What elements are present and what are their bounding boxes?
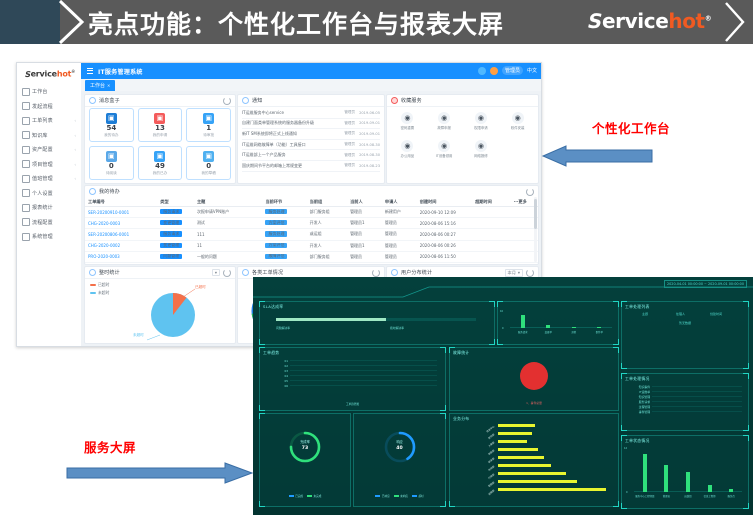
gauge-legend-item: 已响应: [375, 494, 389, 498]
table-cell: 部门服务组: [307, 254, 347, 260]
handle-label: 过程管理: [626, 405, 650, 409]
table-row[interactable]: SER-20200910-0001服务请求次报申请VPN账户服务处理部门服务组管…: [85, 207, 538, 218]
key-icon: ◉: [475, 112, 487, 124]
notice-row[interactable]: IT运维网络故障单（功能）工具接口管理员2019-08-30: [242, 140, 380, 151]
message-tile-label: 待审批: [203, 133, 214, 138]
message-tile-label: 待阅读: [106, 171, 117, 176]
heart-icon: [391, 97, 398, 104]
legend-label: 已完成: [295, 494, 303, 498]
annotation-workbench-label: 个性化工作台: [592, 118, 670, 137]
notice-user: 管理员: [344, 142, 355, 147]
handle-bars-title: 工单处理情况: [625, 376, 650, 382]
table-column-header[interactable]: 主题: [194, 199, 263, 205]
favourite-label: 网络报修: [474, 153, 488, 158]
message-tile-0[interactable]: ▣54我的待办: [89, 108, 134, 142]
status-bar-category: 信息工程师: [699, 494, 721, 498]
trend-label: 05: [266, 379, 288, 383]
my-tickets-card: 我的待办 工单编号类型主题当前环节当前组当前人申请人创建时间超期时间···更多 …: [84, 185, 539, 265]
legend-label: 已超时: [98, 282, 109, 288]
message-tile-count: 54: [106, 125, 116, 132]
notice-user: 管理员: [344, 153, 355, 158]
favourite-label: 权限申请: [474, 125, 488, 130]
message-tile-label: 我的草稿: [201, 171, 215, 176]
handle-label: 服务请求: [626, 400, 650, 404]
notice-list: IT运维服务中心service管理员2019-06-05自建门面类单管理系统的服…: [242, 108, 380, 181]
status-bar-category: 服务台: [720, 494, 742, 498]
dept-bar: [498, 464, 551, 467]
sidebar-item-label: 发起流程: [32, 103, 53, 110]
notice-text: 新IT SM系统即将正式上线通知: [242, 131, 340, 137]
notice-title: 通知: [252, 97, 262, 104]
sidebar-item-label: 工作台: [32, 88, 48, 95]
gauge-left-legend: 已完成未完成: [260, 494, 350, 498]
book-icon: [22, 131, 30, 139]
table-column-header[interactable]: 当前人: [347, 199, 382, 205]
table-cell: 开发人: [307, 243, 347, 249]
detail-table-empty: 暂无数据: [622, 321, 748, 325]
detail-table-title: 工单处理列表: [625, 304, 650, 310]
type-bar-category: 事件单: [587, 330, 613, 334]
language-switch[interactable]: 中文: [527, 67, 537, 74]
table-column-header[interactable]: 类型: [157, 199, 194, 205]
logo-hot: hot: [668, 9, 704, 33]
slide-header: 亮点功能：个性化工作台与报表大屏 Servicehot®: [0, 0, 753, 44]
handle-track: [652, 406, 742, 408]
table-cell: 服务请求: [157, 209, 194, 215]
refresh-icon[interactable]: [526, 269, 534, 277]
trend-label: 01: [266, 359, 288, 363]
logo-tm: ®: [705, 14, 712, 22]
news-icon: ▣: [106, 151, 117, 162]
axis-tick: 0: [502, 327, 504, 330]
message-box-actions: [223, 97, 231, 105]
favourite-item-3[interactable]: ◉软件安装: [500, 108, 535, 134]
table-column-header[interactable]: 当前环节: [262, 199, 306, 205]
legend-label: 超时: [418, 494, 423, 498]
app-sidebar: Servicehot® 工作台发起流程工单列表‹知识库‹资产配置‹项目管理‹值班…: [17, 63, 82, 346]
status-bar-chart: 服务中心工程师组管理员运维组信息工程师服务台012: [634, 447, 742, 498]
notice-user: 管理员: [344, 121, 355, 126]
status-badge: 服务处理: [265, 231, 287, 236]
dept-bar: [498, 456, 544, 459]
user-distribution-period-select[interactable]: 本月▾: [505, 269, 524, 277]
legend-swatch: [307, 495, 312, 498]
logo-mid: ervice: [602, 9, 668, 33]
type-bar-category: 其他: [561, 330, 587, 334]
ticket-trend-panel: 工单趋势 010203040506 工单趋势图: [259, 347, 446, 411]
sidebar-item-label: 流程配置: [32, 219, 53, 226]
handle-label: IT运维单: [626, 390, 650, 394]
table-cell: 一般的问题: [194, 254, 263, 260]
alert-caption: 1、事件总量: [450, 401, 618, 405]
table-row[interactable]: SER-20200806-0001服务请求111服务处理或运组管理员管理员202…: [85, 229, 538, 240]
my-tickets-table: 工单编号类型主题当前环节当前组当前人申请人创建时间超期时间···更多 SER-2…: [85, 197, 538, 264]
table-cell: 管理员1: [347, 243, 382, 249]
sidebar-item-label: 报表统计: [32, 204, 53, 211]
table-cell: 开发人: [307, 220, 347, 226]
edit-doc-icon: ▣: [154, 113, 165, 124]
status-badge: 服务请求: [160, 231, 182, 236]
refresh-icon[interactable]: [372, 269, 380, 277]
favourite-item-0[interactable]: ◉密码重置: [390, 108, 425, 134]
sidebar-item-1[interactable]: 发起流程: [22, 100, 80, 113]
sla-right-label: 按时解决率: [390, 326, 404, 330]
favourite-label: 办公用品: [401, 153, 415, 158]
timeliness-label-over: 已超时: [195, 285, 206, 290]
status-bar-category: 管理员: [656, 494, 678, 498]
notice-user: 管理员: [344, 110, 355, 115]
dept-bar: [498, 424, 535, 427]
notice-text: IT运维部上一个产品服务: [242, 152, 340, 158]
table-cell: 新建用户: [382, 209, 417, 215]
favourites-header: 收藏服务: [387, 95, 538, 107]
ticket-trend-rows: 010203040506: [266, 358, 437, 388]
trend-label: 03: [266, 369, 288, 373]
handle-label: 知识事件: [626, 385, 650, 389]
gauge-left-ring: 完成率 73: [288, 430, 322, 464]
bigscreen-date-range: 2020-04-01 00:00:00 ~ 2020-09-01 00:00:0…: [664, 280, 747, 288]
notice-row[interactable]: IT运维部上一个产品服务管理员2019-08-30: [242, 150, 380, 161]
message-icon[interactable]: [490, 67, 498, 75]
type-bar-bar: [546, 325, 550, 328]
message-box-title: 消息盒子: [99, 97, 120, 104]
ticket-types-title: 各类工单情况: [252, 269, 283, 276]
handle-track: [652, 391, 742, 393]
table-cell: 管理员: [347, 254, 382, 260]
table-column-header[interactable]: 创建时间: [417, 199, 472, 205]
detail-table-header: 主题处理人创建时间: [642, 312, 742, 316]
favourites-title: 收藏服务: [401, 97, 422, 104]
notice-text: 国庆期间节平台的邮箱上常规变更: [242, 163, 340, 169]
trend-label: 04: [266, 374, 288, 378]
dept-bar: [498, 440, 527, 443]
panel-dot-icon: [391, 269, 398, 276]
table-cell: 方案评估: [262, 220, 306, 226]
legend-label: 未超时: [98, 290, 109, 296]
header-chevron-right-icon: [721, 0, 751, 44]
sidebar-item-0[interactable]: 工作台: [22, 85, 80, 98]
annotation-arrow-left: [540, 145, 655, 167]
notice-date: 2019-06-05: [359, 111, 380, 115]
sidebar-item-label: 资产配置: [32, 146, 53, 153]
notice-row[interactable]: 自建门面类单管理系统的服务器备份升级管理员2019-09-01: [242, 119, 380, 130]
sidebar-item-label: 个人设置: [32, 190, 53, 197]
done-icon: ▣: [154, 151, 165, 162]
table-cell: 管理员: [382, 231, 417, 237]
sidebar-item-7[interactable]: 个人设置: [22, 187, 80, 200]
table-row[interactable]: CHG-2020-0002变更管理11方案评估开发人管理员1管理员2020-08…: [85, 241, 538, 252]
handle-track: [652, 396, 742, 398]
topbar-right-group: 管理员 中文: [478, 66, 537, 75]
sidebar-item-10[interactable]: 系统管理: [22, 230, 80, 243]
legend-swatch: [394, 495, 399, 498]
notice-user: 管理员: [344, 131, 355, 136]
favourite-item-1[interactable]: ◉故障申报: [427, 108, 462, 134]
table-cell: 变更管理: [157, 243, 194, 249]
table-row[interactable]: INC-20200812-1-0014事件管理故障申报工单提交分类与派遣运维组管…: [85, 263, 538, 264]
type-bar-panel: 服务请求变更单其他事件单010: [497, 301, 619, 345]
chevron-right-icon: ‹: [74, 176, 76, 181]
panel-dot-icon: [89, 97, 96, 104]
sidebar-item-label: 知识库: [32, 132, 48, 139]
sla-left-label: 问题解决率: [276, 326, 290, 330]
alert-red-circle: [520, 362, 548, 390]
dept-bar-chart: 信息中心财务部人事部销售部研发部市场部行政部客服部运维部: [450, 422, 614, 502]
gauge-right-legend: 已响应未响应超时: [354, 494, 445, 498]
chevron-right-icon: ‹: [74, 133, 76, 138]
table-scrollbar[interactable]: [534, 197, 537, 262]
user-distribution-actions: 本月▾: [505, 269, 535, 277]
table-cell: CHG-2020-0003: [85, 221, 157, 226]
tab-workbench[interactable]: 工作台 ✕: [85, 80, 115, 91]
notice-date: 2019-09-01: [359, 132, 380, 136]
sidebar-item-4[interactable]: 资产配置‹: [22, 143, 80, 156]
favourite-label: IT设备领用: [436, 153, 453, 158]
message-tile-count: 49: [155, 163, 165, 170]
notice-row[interactable]: 新IT SM系统即将正式上线通知管理员2019-09-01: [242, 129, 380, 140]
table-cell: 问题管理: [157, 254, 194, 260]
panel-dot-icon: [242, 97, 249, 104]
status-badge: 故障评估: [265, 254, 287, 259]
app-logo: Servicehot®: [25, 69, 75, 79]
alert-icon: ◉: [438, 112, 450, 124]
app-logo-tm: ®: [71, 69, 75, 74]
status-badge: 方案评估: [265, 243, 287, 248]
gauge-right-panel: 响应 40 已响应未响应超时: [353, 413, 446, 507]
table-cell: 服务请求: [157, 231, 194, 237]
project-icon: [22, 160, 30, 168]
gauge-right-label: 响应: [383, 439, 417, 444]
refresh-icon[interactable]: [223, 269, 231, 277]
message-tile-3[interactable]: ▣0待阅读: [89, 146, 134, 180]
sidebar-item-label: 系统管理: [32, 233, 53, 240]
dept-panel-title: 业务分布: [453, 416, 469, 422]
clock-doc-icon: ▣: [203, 113, 214, 124]
ticket-trend-footer: 工单趋势图: [260, 402, 445, 406]
dept-bar: [498, 472, 566, 475]
message-tile-1[interactable]: ▣13我的申请: [138, 108, 183, 142]
dept-bar: [498, 480, 577, 483]
trend-track: [290, 380, 437, 382]
table-column-header[interactable]: 工单编号: [85, 199, 157, 205]
message-tile-4[interactable]: ▣49我的已办: [138, 146, 183, 180]
bigscreen-column-header: 处理人: [676, 312, 708, 316]
type-bar-category: 服务请求: [510, 330, 536, 334]
refresh-icon[interactable]: [223, 97, 231, 105]
table-column-header[interactable]: 当前组: [307, 199, 347, 205]
notice-row[interactable]: IT运维服务中心service管理员2019-06-05: [242, 108, 380, 119]
table-cell: 2020-08-06 15:16: [417, 221, 472, 226]
favourite-item-2[interactable]: ◉权限申请: [464, 108, 499, 134]
status-bar-bar: [643, 454, 647, 492]
favourite-item-4[interactable]: ◉办公用品: [390, 136, 425, 162]
trend-track: [290, 360, 437, 362]
flow-icon: [22, 102, 30, 110]
legend-label: 已响应: [382, 494, 390, 498]
table-cell: 测试: [194, 220, 263, 226]
legend-swatch: [412, 495, 417, 498]
table-row[interactable]: PRO-2020-0003问题管理一般的问题故障评估部门服务组管理员管理员202…: [85, 252, 538, 263]
settings-icon: [22, 189, 30, 197]
ticket-types-actions: [372, 269, 380, 277]
message-tile-grid: ▣54我的待办▣13我的申请▣1待审批▣0待阅读▣49我的已办▣0我的草稿: [89, 108, 231, 180]
legend-swatch: [90, 284, 96, 286]
timeliness-legend-item[interactable]: 已超时: [90, 282, 109, 288]
chevron-right-icon: ‹: [74, 162, 76, 167]
gauge-left-label: 完成率: [288, 439, 322, 444]
table-row[interactable]: CHG-2020-0003变更管理测试方案评估开发人管理员1管理员2020-08…: [85, 218, 538, 229]
status-badge: 问题管理: [160, 254, 182, 259]
type-bar-category: 变更单: [536, 330, 562, 334]
annotation-arrow-right: [65, 461, 255, 485]
user-distribution-title: 用户分布统计: [401, 269, 432, 276]
sidebar-item-5[interactable]: 项目管理‹: [22, 158, 80, 171]
table-cell: CHG-2020-0002: [85, 243, 157, 248]
status-bar-bar: [708, 485, 712, 492]
sidebar-item-9[interactable]: 流程配置: [22, 216, 80, 229]
message-box-card: 消息盒子 ▣54我的待办▣13我的申请▣1待审批▣0待阅读▣49我的已办▣0我的…: [84, 94, 236, 184]
sidebar-item-3[interactable]: 知识库‹: [22, 129, 80, 142]
table-cell: 管理员: [347, 209, 382, 215]
detail-table-panel: 工单处理列表 主题处理人创建时间 暂无数据: [621, 301, 749, 369]
gauge-legend-item: 未完成: [307, 494, 321, 498]
app-topbar: IT服务管理系统 管理员 中文: [81, 63, 541, 79]
bigscreen-column-header: 创建时间: [710, 312, 742, 316]
notice-date: 2019-08-23: [359, 164, 380, 168]
legend-label: 未响应: [400, 494, 408, 498]
message-tile-count: 0: [109, 163, 114, 170]
slide-title: 亮点功能：个性化工作台与报表大屏: [88, 5, 504, 41]
user-badge[interactable]: 管理员: [502, 66, 523, 75]
handle-track: [652, 411, 742, 413]
sidebar-item-label: 工单列表: [32, 117, 53, 124]
table-cell: 或运组: [307, 231, 347, 237]
table-column-header[interactable]: 申请人: [382, 199, 417, 205]
sidebar-item-6[interactable]: 值班管理‹: [22, 172, 80, 185]
gauge-legend-item: 超时: [412, 494, 424, 498]
panel-dot-icon: [89, 269, 96, 276]
table-cell: 管理员: [347, 231, 382, 237]
close-icon[interactable]: ✕: [107, 83, 110, 88]
table-cell: 服务处理: [262, 231, 306, 237]
table-cell: 故障评估: [262, 254, 306, 260]
install-icon: ◉: [512, 112, 524, 124]
table-cell: 11: [194, 243, 263, 248]
axis-tick: 12: [624, 447, 627, 450]
handle-track: [652, 401, 742, 403]
tab-label: 工作台: [90, 82, 105, 89]
table-cell: 管理员: [382, 254, 417, 260]
status-badge: 服务请求: [160, 209, 182, 214]
type-bar-bar: [597, 327, 601, 328]
status-badge: 变更管理: [160, 220, 182, 225]
status-badge: 方案评估: [265, 220, 287, 225]
favourite-label: 密码重置: [401, 125, 415, 130]
message-tile-label: 我的已办: [153, 171, 167, 176]
table-header-row: 工单编号类型主题当前环节当前组当前人申请人创建时间超期时间···更多: [85, 197, 538, 207]
message-box-header: 消息盒子: [85, 95, 235, 107]
message-tile-5[interactable]: ▣0我的草稿: [186, 146, 231, 180]
config-icon: [22, 218, 30, 226]
table-cell: 管理员: [382, 220, 417, 226]
table-cell: 部门服务组: [307, 209, 347, 215]
period-value: 本月: [508, 270, 516, 276]
status-badge: 服务处理: [265, 209, 287, 214]
dept-bar: [498, 432, 532, 435]
legend-swatch: [90, 292, 96, 294]
sidebar-item-2[interactable]: 工单列表‹: [22, 114, 80, 127]
favourites-grid: ◉密码重置◉故障申报◉权限申请◉软件安装◉办公用品◉IT设备领用◉网络报修: [390, 108, 535, 181]
hamburger-icon[interactable]: [87, 68, 93, 74]
table-cell: 111: [194, 232, 263, 237]
notice-row[interactable]: 国庆期间节平台的邮箱上常规变更管理员2019-08-23: [242, 161, 380, 172]
trend-row: 06: [266, 383, 437, 388]
table-cell: 方案评估: [262, 243, 306, 249]
table-cell: 管理员: [382, 243, 417, 249]
handle-label: 知识管理: [626, 395, 650, 399]
table-cell: 次报申请VPN账户: [194, 209, 263, 215]
table-column-header[interactable]: 超期时间: [472, 199, 511, 205]
status-badge: 变更管理: [160, 243, 182, 248]
ticket-trend-title: 工单趋势: [263, 350, 279, 356]
refresh-icon[interactable]: [526, 188, 534, 196]
help-icon[interactable]: [478, 67, 486, 75]
notice-text: IT运维服务中心service: [242, 110, 340, 116]
gauge-left-panel: 完成率 73 已完成未完成: [259, 413, 351, 507]
favourite-item-5[interactable]: ◉IT设备领用: [427, 136, 462, 162]
annotation-bigscreen-label: 服务大屏: [84, 437, 136, 456]
favourite-label: 软件安装: [511, 125, 525, 130]
servicehot-logo: Servicehot®: [588, 9, 711, 33]
status-bar-bar: [686, 472, 690, 493]
handle-bars-panel: 工单处理情况 知识事件IT运维单知识管理服务请求过程管理事件管理: [621, 373, 749, 431]
chart-icon: [22, 204, 30, 212]
bigscreen-column-header: 主题: [642, 312, 674, 316]
notice-text: 自建门面类单管理系统的服务器备份升级: [242, 120, 340, 126]
favourite-label: 故障申报: [437, 125, 451, 130]
sidebar-item-8[interactable]: 报表统计: [22, 201, 80, 214]
message-tile-label: 我的待办: [104, 133, 118, 138]
notice-header: 通知: [238, 95, 384, 107]
table-cell: 2020-08-06 00:26: [417, 243, 472, 248]
favourite-item-6[interactable]: ◉网络报修: [464, 136, 499, 162]
app-title: IT服务管理系统: [98, 67, 143, 76]
notice-date: 2019-08-30: [359, 153, 380, 157]
notice-text: IT运维网络故障单（功能）工具接口: [242, 142, 340, 148]
axis-tick: 0: [626, 491, 628, 494]
trend-track: [290, 365, 437, 367]
status-bar-title: 工单状态情况: [625, 438, 650, 444]
app-logo-s: S: [24, 70, 31, 79]
asset-icon: [22, 146, 30, 154]
legend-swatch: [289, 495, 294, 498]
notice-user: 管理员: [344, 163, 355, 168]
gauge-legend-item: 已完成: [289, 494, 303, 498]
timeliness-period-select[interactable]: ▾: [212, 269, 220, 276]
gauge-right-value: 40: [383, 446, 417, 451]
timeliness-legend-item[interactable]: 未超时: [90, 290, 109, 296]
supplies-icon: ◉: [401, 140, 413, 152]
header-chevron-left-icon: [56, 0, 90, 44]
device-icon: ◉: [438, 140, 450, 152]
dept-bar: [498, 488, 606, 491]
message-tile-2[interactable]: ▣1待审批: [186, 108, 231, 142]
list-icon: [22, 117, 30, 125]
my-tickets-title: 我的待办: [99, 188, 120, 195]
timeliness-actions: ▾: [212, 269, 231, 277]
chevron-right-icon: ‹: [74, 147, 76, 152]
message-tile-count: 0: [206, 163, 211, 170]
